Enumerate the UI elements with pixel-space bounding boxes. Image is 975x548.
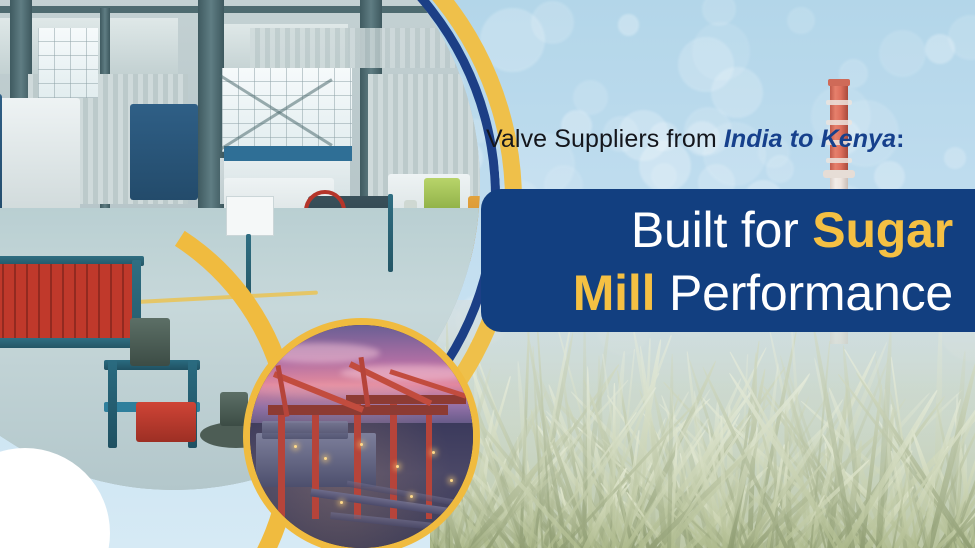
headline-line2: Mill Performance xyxy=(481,262,953,325)
eyebrow-text: Valve Suppliers from India to Kenya: xyxy=(486,124,905,154)
headline-text: Built for Sugar Mill Performance xyxy=(481,199,953,325)
headline-line2-highlight: Mill xyxy=(573,265,656,321)
headline-line2-plain: Performance xyxy=(655,265,953,321)
eyebrow-suffix: : xyxy=(896,125,904,153)
port-circle-image xyxy=(243,318,480,548)
eyebrow-prefix: Valve Suppliers from xyxy=(486,125,724,153)
headline-line1-plain: Built for xyxy=(631,202,812,258)
headline-line1-highlight: Sugar xyxy=(812,202,953,258)
sugarcane-field-image xyxy=(430,300,975,548)
headline-panel: Built for Sugar Mill Performance xyxy=(481,189,975,332)
promo-banner: Valve Suppliers from India to Kenya: Bui… xyxy=(0,0,975,548)
eyebrow-emphasis: India to Kenya xyxy=(724,125,896,153)
photo-haze-overlay xyxy=(430,300,975,548)
